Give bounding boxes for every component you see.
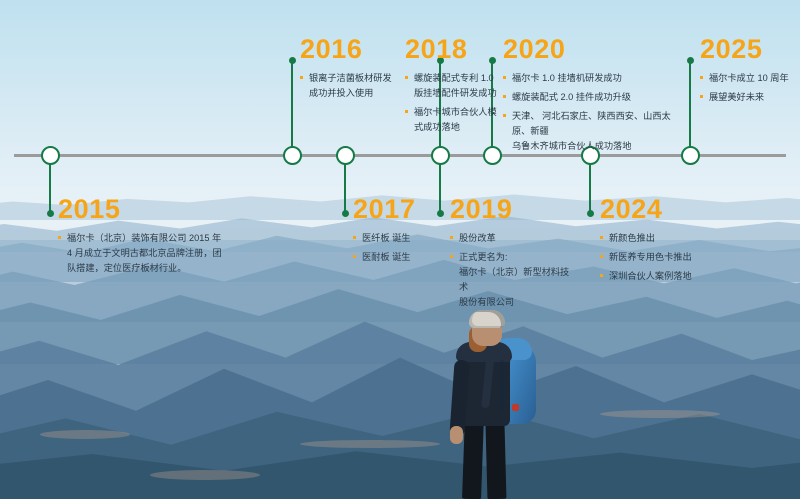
entry-bullets-2020: 福尔卡 1.0 挂墙机研发成功 螺旋装配式 2.0 挂件成功升级 天津、 河北石… [503,71,688,154]
entry-year-2017: 2017 [353,196,433,223]
bullet-item: 福尔卡城市合伙人模 式成功落地 [405,105,497,135]
timeline-stem-dot-2017 [342,210,349,217]
bullet-item: 福尔卡 1.0 挂墙机研发成功 [503,71,688,86]
timeline-entry-2018[interactable]: 2018 螺旋装配式专利 1.0 版挂墙配件研发成功 福尔卡城市合伙人模 式成功… [405,36,497,139]
hiker-backpack-buckle [512,404,519,411]
sunlit-slope-fleck [40,430,130,439]
timeline-stem-2025 [689,60,692,155]
entry-bullets-2018: 螺旋装配式专利 1.0 版挂墙配件研发成功 福尔卡城市合伙人模 式成功落地 [405,71,497,135]
timeline-node-2017[interactable] [336,146,355,165]
sunlit-slope-fleck [300,440,440,448]
timeline-stem-dot-2016 [289,57,296,64]
timeline-entry-2025[interactable]: 2025 福尔卡成立 10 周年 展望美好未来 [700,36,795,109]
timeline-node-2016[interactable] [283,146,302,165]
timeline-stem-dot-2015 [47,210,54,217]
timeline-node-2015[interactable] [41,146,60,165]
entry-year-2020: 2020 [503,36,688,63]
entry-bullets-2016: 银离子洁菌板材研发 成功并投入使用 [300,71,398,101]
entry-bullets-2015: 福尔卡（北京）装饰有限公司 2015 年 4 月成立于文明古都北京品牌注册，团 … [58,231,238,276]
entry-year-2016: 2016 [300,36,398,63]
bullet-item: 展望美好未来 [700,90,795,105]
timeline-infographic: 2016 银离子洁菌板材研发 成功并投入使用 2018 螺旋装配式专利 1.0 … [0,0,800,499]
timeline-entry-2015[interactable]: 2015 福尔卡（北京）装饰有限公司 2015 年 4 月成立于文明古都北京品牌… [58,196,238,280]
timeline-stem-dot-2019 [437,210,444,217]
entry-year-2025: 2025 [700,36,795,63]
timeline-entry-2024[interactable]: 2024 新颜色推出 新医养专用色卡推出 深圳合伙人案例落地 [600,196,730,288]
timeline-node-2020[interactable] [483,146,502,165]
entry-year-2018: 2018 [405,36,497,63]
sunlit-slope-fleck [600,410,720,418]
entry-bullets-2024: 新颜色推出 新医养专用色卡推出 深圳合伙人案例落地 [600,231,730,284]
hiker-figure [438,308,558,499]
hiker-backpack-seam [500,360,504,410]
entry-year-2024: 2024 [600,196,730,223]
bullet-item: 新颜色推出 [600,231,730,246]
bullet-item: 医纤板 诞生 [353,231,433,246]
entry-year-2019: 2019 [450,196,578,223]
timeline-entry-2016[interactable]: 2016 银离子洁菌板材研发 成功并投入使用 [300,36,398,105]
bullet-item: 新医养专用色卡推出 [600,250,730,265]
bullet-item: 螺旋装配式专利 1.0 版挂墙配件研发成功 [405,71,497,101]
bullet-item: 银离子洁菌板材研发 成功并投入使用 [300,71,398,101]
hiker-hand [450,426,463,444]
bullet-item: 福尔卡（北京）装饰有限公司 2015 年 4 月成立于文明古都北京品牌注册，团 … [58,231,238,276]
timeline-stem-2016 [291,60,294,155]
bullet-item: 螺旋装配式 2.0 挂件成功升级 [503,90,688,105]
bullet-item: 医耐板 诞生 [353,250,433,265]
timeline-entry-2017[interactable]: 2017 医纤板 诞生 医耐板 诞生 [353,196,433,269]
bullet-item: 天津、 河北石家庄、陕西西安、山西太原、新疆 乌鲁木齐城市合伙人成功落地 [503,109,688,154]
timeline-entry-2020[interactable]: 2020 福尔卡 1.0 挂墙机研发成功 螺旋装配式 2.0 挂件成功升级 天津… [503,36,688,158]
bullet-item: 股份改革 [450,231,578,246]
bullet-item: 深圳合伙人案例落地 [600,269,730,284]
bullet-item: 正式更名为: 福尔卡（北京）新型材料技术 股份有限公司 [450,250,578,310]
entry-year-2015: 2015 [58,196,238,223]
sunlit-slope-fleck [150,470,260,480]
timeline-stem-dot-2024 [587,210,594,217]
entry-bullets-2025: 福尔卡成立 10 周年 展望美好未来 [700,71,795,105]
entry-bullets-2017: 医纤板 诞生 医耐板 诞生 [353,231,433,265]
entry-bullets-2019: 股份改革 正式更名为: 福尔卡（北京）新型材料技术 股份有限公司 [450,231,578,310]
timeline-entry-2019[interactable]: 2019 股份改革 正式更名为: 福尔卡（北京）新型材料技术 股份有限公司 [450,196,578,314]
bullet-item: 福尔卡成立 10 周年 [700,71,795,86]
timeline-node-2018[interactable] [431,146,450,165]
